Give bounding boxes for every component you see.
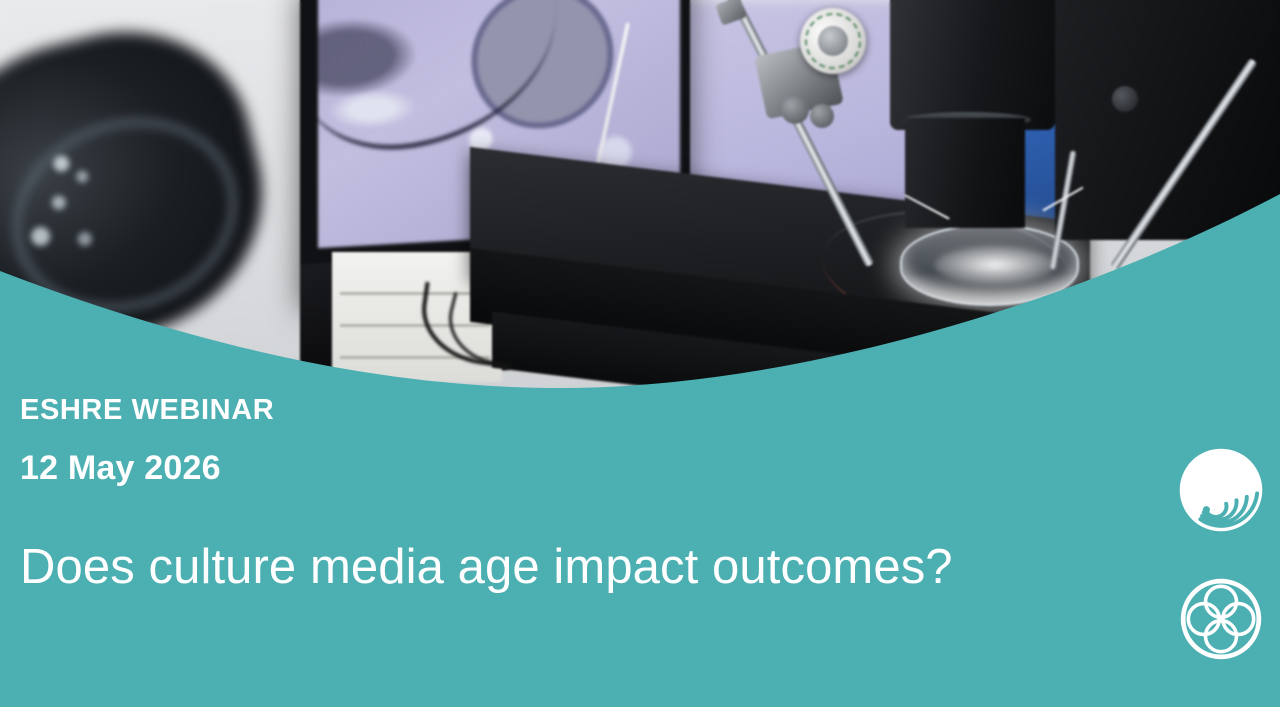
eshre-logo xyxy=(1178,447,1264,533)
partner-quatrefoil-logo xyxy=(1178,576,1264,662)
webinar-promo-banner: ESHRE WEBINAR 12 May 2026 Does culture m… xyxy=(0,0,1280,707)
webinar-title: Does culture media age impact outcomes? xyxy=(20,540,953,595)
event-kicker: ESHRE WEBINAR xyxy=(20,396,274,425)
banner-content: ESHRE WEBINAR 12 May 2026 Does culture m… xyxy=(0,0,1280,707)
event-date: 12 May 2026 xyxy=(20,450,221,487)
